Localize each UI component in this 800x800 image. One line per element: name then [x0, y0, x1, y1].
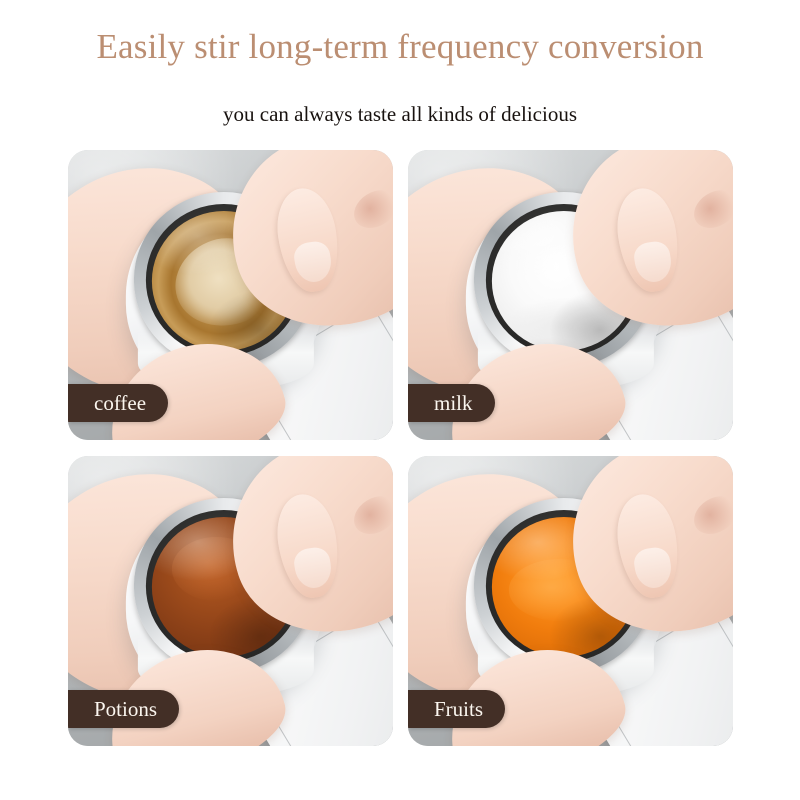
- card-label-badge: coffee: [68, 384, 168, 422]
- card-label-badge: Potions: [68, 690, 179, 728]
- product-use-case-gallery: coffee milk: [68, 150, 733, 770]
- card-label-badge: milk: [408, 384, 495, 422]
- knuckle-crease: [687, 183, 733, 236]
- card-label-badge: Fruits: [408, 690, 505, 728]
- gallery-card-coffee[interactable]: coffee: [68, 150, 393, 440]
- page-subtitle: you can always taste all kinds of delici…: [0, 101, 800, 127]
- gallery-card-milk[interactable]: milk: [408, 150, 733, 440]
- gallery-card-potions[interactable]: Potions: [68, 456, 393, 746]
- page-title: Easily stir long-term frequency conversi…: [0, 26, 800, 68]
- knuckle-crease: [347, 183, 393, 236]
- knuckle-crease: [687, 489, 733, 542]
- gallery-card-fruits[interactable]: Fruits: [408, 456, 733, 746]
- page-header: Easily stir long-term frequency conversi…: [0, 0, 800, 150]
- knuckle-crease: [347, 489, 393, 542]
